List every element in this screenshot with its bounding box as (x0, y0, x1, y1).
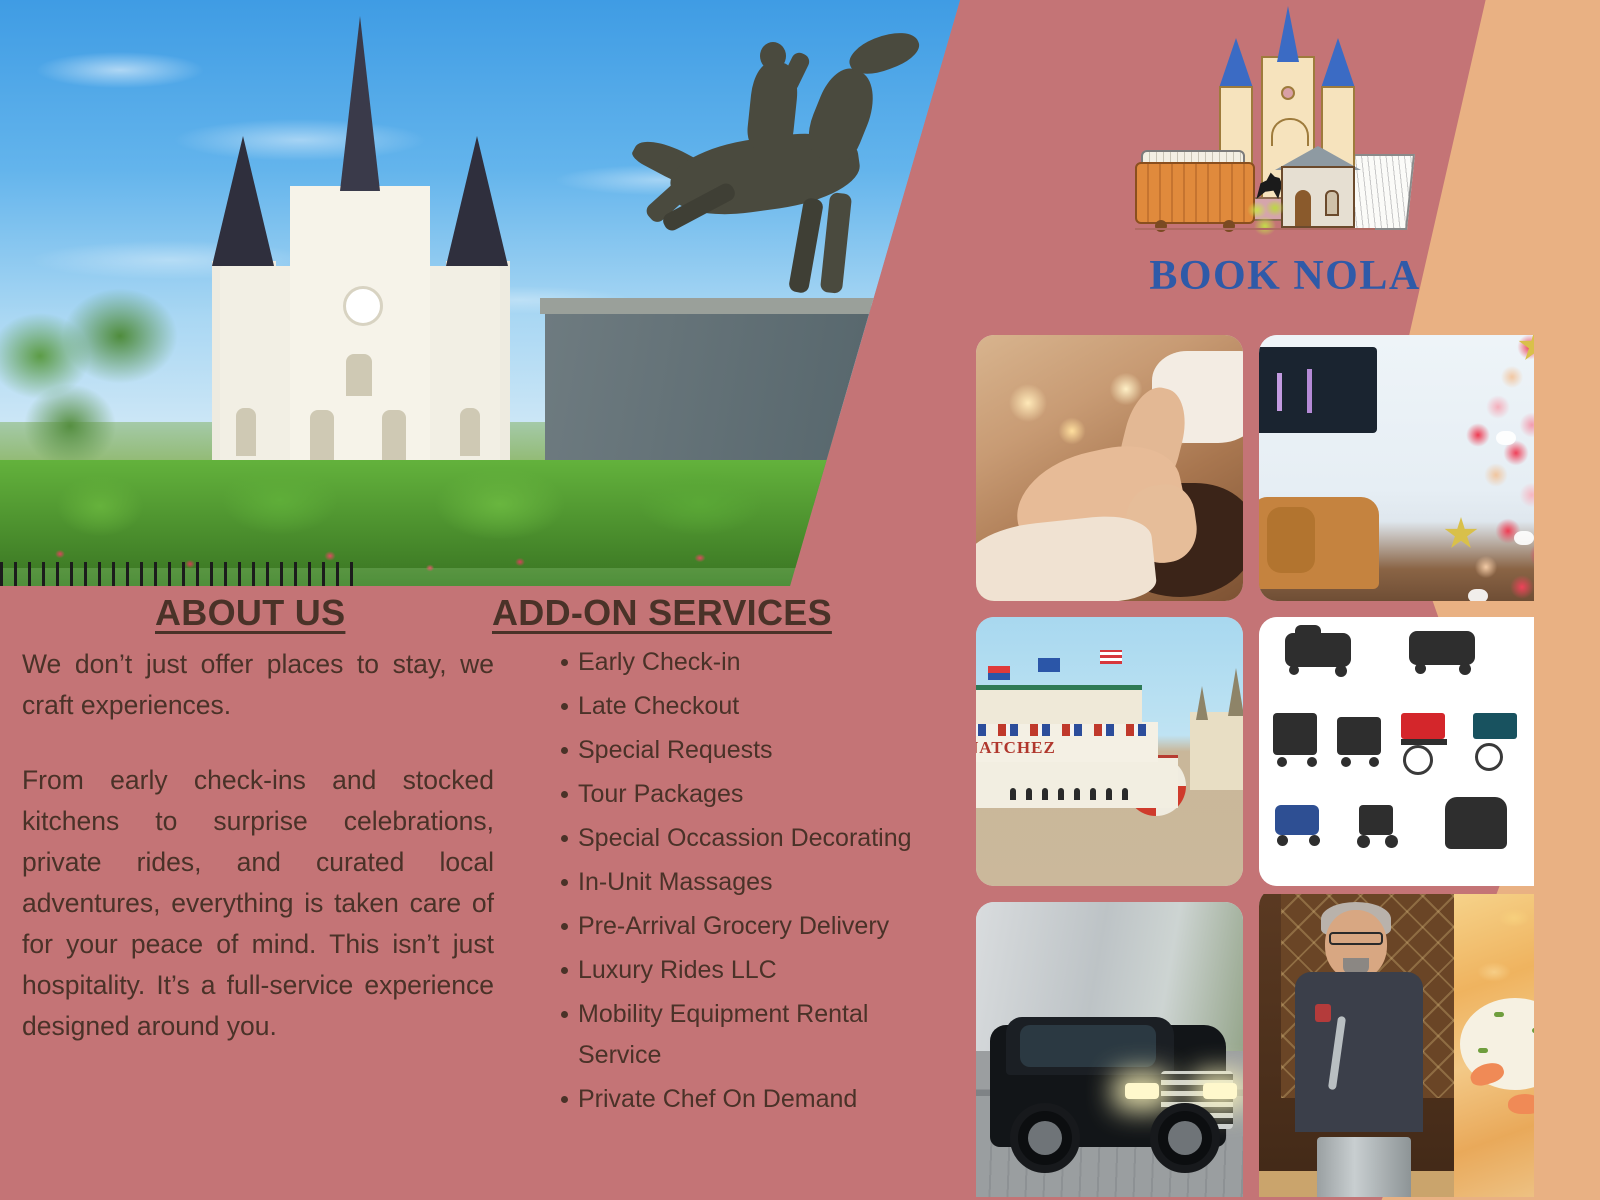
brand-name: BOOK NOLA (1135, 252, 1435, 300)
steamboat-name-caption: NATCHEZ (976, 738, 1056, 758)
pasta-dish-photo (1454, 894, 1534, 1197)
about-us-body: We don’t just offer places to stay, we c… (22, 644, 494, 1047)
nola-cathedral-streetcar-logo-icon (1135, 14, 1435, 254)
steamboat-natchez-photo: NATCHEZ (976, 617, 1243, 886)
private-chef-photo (1259, 894, 1534, 1197)
add-on-services-list: Early Check-inLate CheckoutSpecial Reque… (556, 642, 938, 1123)
andrew-jackson-statue (600, 28, 930, 298)
service-list-item: Early Check-in (578, 642, 938, 683)
service-list-item: Luxury Rides LLC (578, 950, 938, 991)
service-list-item: Pre-Arrival Grocery Delivery (578, 906, 938, 947)
luxury-suv-photo (976, 902, 1243, 1197)
gallery-cell-chef-food (1251, 894, 1534, 1197)
gallery-cell-balloons (1251, 327, 1534, 609)
gallery-cell-mobility (1251, 609, 1534, 894)
add-on-services-heading: ADD-ON SERVICES (492, 592, 832, 634)
service-list-item: In-Unit Massages (578, 862, 938, 903)
about-us-heading: ABOUT US (155, 592, 345, 634)
cathedral-illustration (150, 86, 570, 516)
about-paragraph: From early check-ins and stocked kitchen… (22, 760, 494, 1047)
brand-logo: BOOK NOLA (1135, 14, 1435, 314)
service-list-item: Late Checkout (578, 686, 938, 727)
gallery-cell-steamboat: NATCHEZ (968, 609, 1251, 894)
service-list-item: Tour Packages (578, 774, 938, 815)
service-list-item: Mobility Equipment Rental Service (578, 994, 938, 1076)
gallery-cell-luxury-suv (968, 894, 1251, 1197)
brochure-page: BOOK NOLA (0, 0, 1600, 1200)
statue-plinth-cap (540, 298, 895, 314)
text-section: ABOUT US ADD-ON SERVICES We don’t just o… (0, 586, 960, 1200)
about-paragraph: We don’t just offer places to stay, we c… (22, 644, 494, 726)
balloon-decor-photo (1259, 335, 1534, 601)
spa-massage-photo (976, 335, 1243, 601)
service-list-item: Special Occassion Decorating (578, 818, 938, 859)
gallery-cell-spa (968, 327, 1251, 609)
iron-fence (0, 562, 360, 586)
service-list-item: Private Chef On Demand (578, 1079, 938, 1120)
mobility-equipment-photo (1259, 617, 1534, 886)
service-list-item: Special Requests (578, 730, 938, 771)
photo-gallery: NATCHEZ (968, 327, 1534, 1197)
hero-jackson-square-photo (0, 0, 960, 586)
